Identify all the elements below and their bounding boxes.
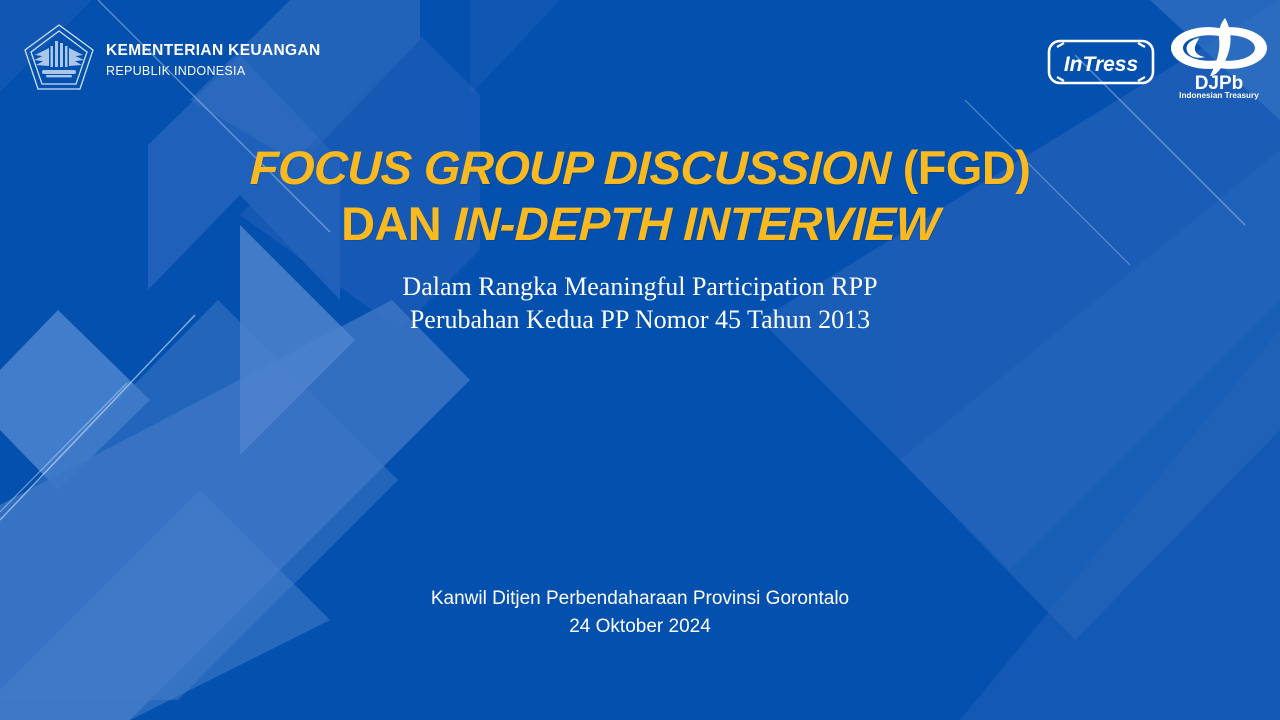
title-line-2-main: IN-DEPTH INTERVIEW bbox=[453, 196, 940, 252]
subtitle-line-1: Dalam Rangka Meaningful Participation RP… bbox=[0, 270, 1280, 303]
slide-header: KEMENTERIAN KEUANGAN REPUBLIK INDONESIA … bbox=[0, 0, 1280, 110]
kemenkeu-pentagon-logo bbox=[22, 22, 96, 92]
footer-organizer: Kanwil Ditjen Perbendaharaan Provinsi Go… bbox=[0, 585, 1280, 613]
subtitle-line-2: Perubahan Kedua PP Nomor 45 Tahun 2013 bbox=[0, 303, 1280, 336]
title-slide: KEMENTERIAN KEUANGAN REPUBLIK INDONESIA … bbox=[0, 0, 1280, 720]
title-block: FOCUS GROUP DISCUSSION (FGD) DAN IN-DEPT… bbox=[0, 140, 1280, 252]
djpb-logo-subtext: Indonesian Treasury bbox=[1179, 91, 1259, 100]
intress-logo-text: InTress bbox=[1064, 53, 1138, 76]
footer-block: Kanwil Ditjen Perbendaharaan Provinsi Go… bbox=[0, 585, 1280, 641]
title-line-2-conjunction: DAN bbox=[341, 196, 441, 252]
ministry-name-line1: KEMENTERIAN KEUANGAN bbox=[106, 41, 321, 61]
subtitle-block: Dalam Rangka Meaningful Participation RP… bbox=[0, 270, 1280, 336]
title-line-1-acronym: (FGD) bbox=[903, 140, 1031, 196]
intress-logo: InTress bbox=[1043, 33, 1159, 91]
title-line-1-main: FOCUS GROUP DISCUSSION bbox=[249, 140, 891, 196]
ministry-wordmark: KEMENTERIAN KEUANGAN REPUBLIK INDONESIA bbox=[106, 41, 321, 79]
footer-date: 24 Oktober 2024 bbox=[0, 613, 1280, 641]
djpb-logo: DJPb Indonesian Treasury bbox=[1163, 16, 1275, 100]
title-line-1: FOCUS GROUP DISCUSSION (FGD) bbox=[0, 140, 1280, 196]
ministry-name-line2: REPUBLIK INDONESIA bbox=[106, 63, 321, 79]
title-line-2: DAN IN-DEPTH INTERVIEW bbox=[0, 196, 1280, 252]
